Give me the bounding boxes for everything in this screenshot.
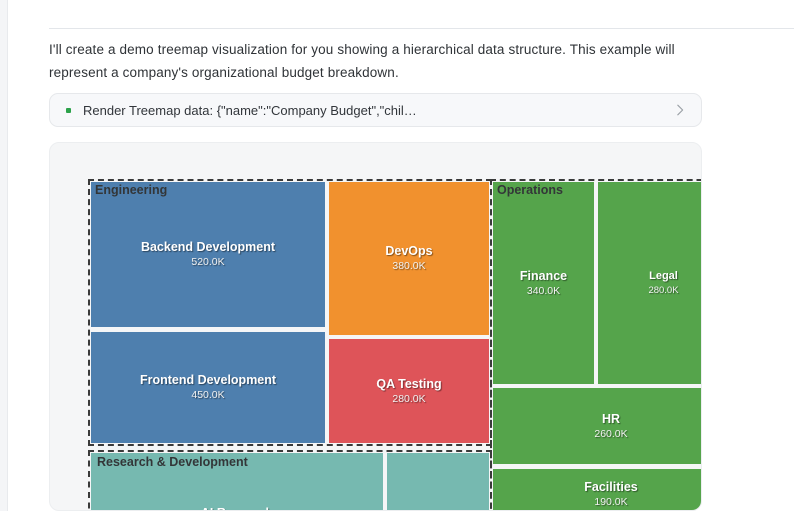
message-divider [49, 28, 794, 29]
treemap-tile-legal[interactable]: Legal 280.0K [598, 182, 702, 384]
tile-name: Frontend Development [140, 373, 276, 388]
treemap-tile-qa-testing[interactable]: QA Testing 280.0K [329, 339, 489, 443]
treemap-tile-rnd-secondary[interactable] [387, 453, 489, 511]
message-line-2: represent a company's organizational bud… [49, 61, 697, 84]
tile-name: QA Testing [376, 377, 441, 392]
tile-value: 340.0K [527, 284, 560, 298]
assistant-message: I'll create a demo treemap visualization… [49, 38, 697, 84]
conversation-pane: I'll create a demo treemap visualization… [8, 0, 794, 511]
treemap-tile-frontend-development[interactable]: Frontend Development 450.0K [91, 332, 325, 443]
tile-value: 190.0K [594, 495, 627, 509]
tile-name: DevOps [385, 244, 432, 259]
treemap-tile-hr[interactable]: HR 260.0K [493, 388, 702, 464]
tile-name: AI Research [201, 506, 273, 511]
tile-name: Legal [649, 269, 678, 284]
tile-value: 260.0K [594, 427, 627, 441]
treemap-tile-devops[interactable]: DevOps 380.0K [329, 182, 489, 335]
tile-value: 380.0K [392, 259, 425, 273]
treemap-tile-ai-research[interactable]: AI Research [91, 453, 383, 511]
tool-call-label: Render Treemap data: {"name":"Company Bu… [83, 103, 673, 118]
tile-value: 280.0K [392, 392, 425, 406]
treemap-tile-finance[interactable]: Finance 340.0K [493, 182, 594, 384]
chevron-right-icon[interactable] [673, 103, 687, 117]
tile-name: HR [602, 412, 620, 427]
message-line-1: I'll create a demo treemap visualization… [49, 38, 697, 61]
tile-value: 280.0K [648, 284, 678, 298]
tile-name: Backend Development [141, 240, 275, 255]
treemap-tile-backend-development[interactable]: Backend Development 520.0K [91, 182, 325, 327]
status-dot-icon [66, 108, 71, 113]
tile-name: Facilities [584, 480, 638, 495]
tool-call-row[interactable]: Render Treemap data: {"name":"Company Bu… [49, 93, 702, 127]
treemap-tile-facilities[interactable]: Facilities 190.0K [493, 469, 702, 511]
tile-name: Finance [520, 269, 567, 284]
tile-value: 450.0K [191, 388, 224, 402]
treemap-card: Backend Development 520.0K Frontend Deve… [49, 142, 702, 511]
left-rail [0, 0, 8, 511]
treemap-plot: Backend Development 520.0K Frontend Deve… [88, 179, 702, 511]
tile-value: 520.0K [191, 255, 224, 269]
